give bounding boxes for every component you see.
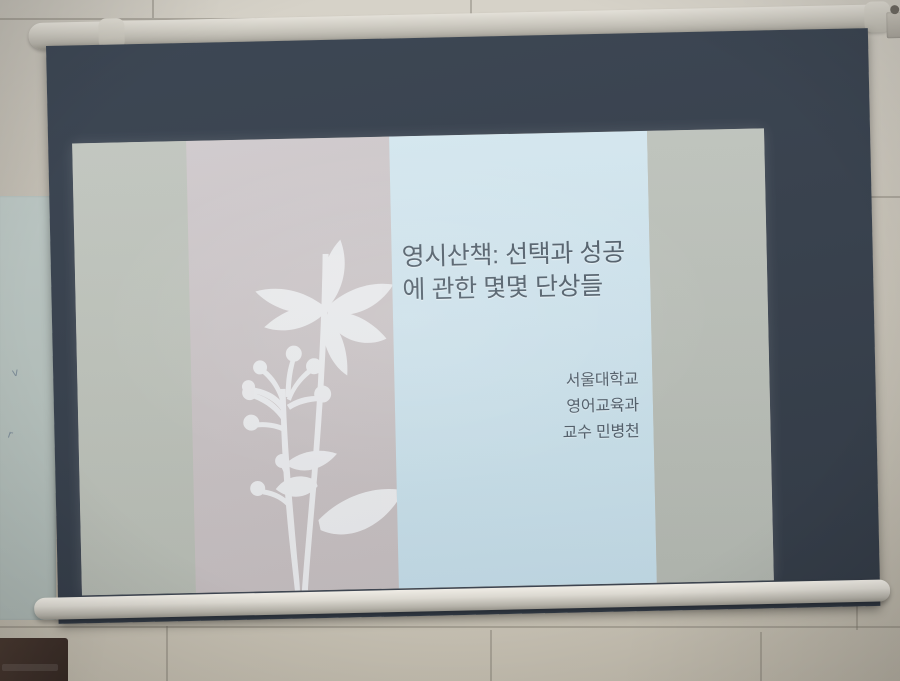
wooden-furniture-object [0, 638, 68, 681]
slide-text-container: 영시산책: 선택과 성공 에 관한 몇몇 단상들 서울대학교 영어교육과 교수 … [389, 131, 657, 589]
board-scribble-mark: r [6, 428, 14, 442]
wall-seam [0, 626, 900, 628]
slide-artwork-panel [186, 137, 399, 593]
wall-board-panel: v r [0, 196, 56, 620]
wall-mount-bracket [886, 12, 900, 38]
board-scribble-mark: v [11, 365, 20, 379]
slide-left-accent-strip [72, 141, 196, 595]
wall-seam [166, 626, 168, 681]
presentation-slide: 영시산책: 선택과 성공 에 관한 몇몇 단상들 서울대학교 영어교육과 교수 … [72, 128, 774, 595]
classroom-photo: v r [0, 0, 900, 681]
slide-right-accent-strip [647, 128, 774, 582]
wall-seam [490, 630, 492, 681]
subtitle-line-presenter: 교수 민병천 [419, 419, 640, 450]
slide-subtitle: 서울대학교 영어교육과 교수 민병천 [418, 367, 640, 449]
slide-title: 영시산책: 선택과 성공 에 관한 몇몇 단상들 [401, 236, 644, 307]
wall-seam [760, 632, 762, 681]
botanical-plant-icon [194, 226, 399, 592]
projector-screen-surface: 영시산책: 선택과 성공 에 관한 몇몇 단상들 서울대학교 영어교육과 교수 … [46, 28, 880, 624]
